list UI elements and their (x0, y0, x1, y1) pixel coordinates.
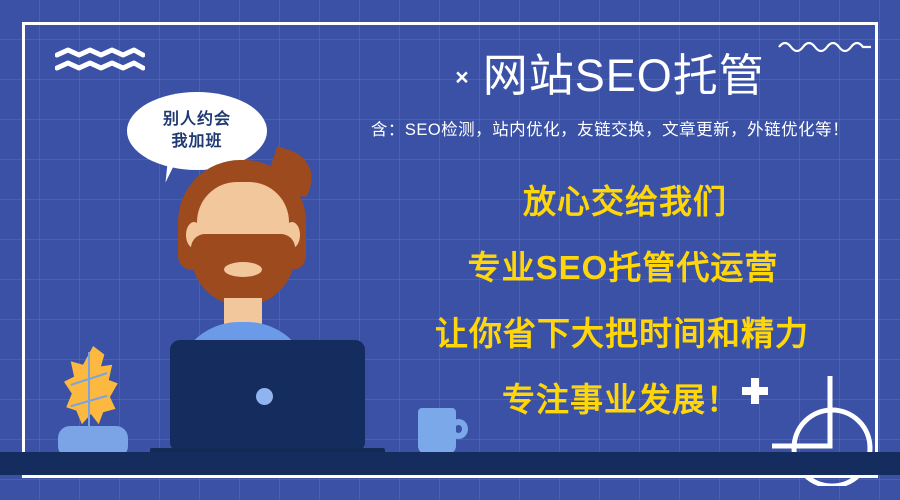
plant-leaf (64, 346, 120, 431)
laptop-logo-icon (256, 388, 273, 405)
mug-handle (449, 419, 468, 439)
seo-hosting-banner: × 网站SEO托管 含：SEO检测，站内优化，友链交换，文章更新，外链优化等！ … (0, 0, 900, 500)
desk-surface (0, 452, 900, 475)
potted-plant (58, 346, 128, 456)
speech-bubble-line-2: 我加班 (171, 131, 222, 153)
coffee-mug (418, 408, 468, 454)
slogan-block: 放心交给我们 专业SEO托管代运营 让你省下大把时间和精力 专注事业发展！ (400, 185, 850, 416)
speech-bubble: 别人约会 我加班 (127, 92, 267, 170)
mouth (224, 262, 262, 277)
slogan-line-2: 专业SEO托管代运营 (396, 251, 850, 284)
speech-bubble-body: 别人约会 我加班 (127, 92, 267, 170)
slogan-line-3: 让你省下大把时间和精力 (394, 317, 850, 350)
plant-leaf-vein (88, 352, 90, 430)
header-title-row: × 网站SEO托管 (330, 46, 890, 104)
page-title: 网站SEO托管 (483, 53, 765, 98)
double-wave-icon (55, 47, 145, 73)
speech-bubble-line-1: 别人约会 (163, 109, 231, 131)
slogan-line-1: 放心交给我们 (400, 185, 850, 218)
title-bullet-icon: × (455, 66, 468, 89)
page-subtitle: 含：SEO检测，站内优化，友链交换，文章更新，外链优化等！ (330, 116, 890, 140)
laptop-screen (170, 340, 365, 452)
